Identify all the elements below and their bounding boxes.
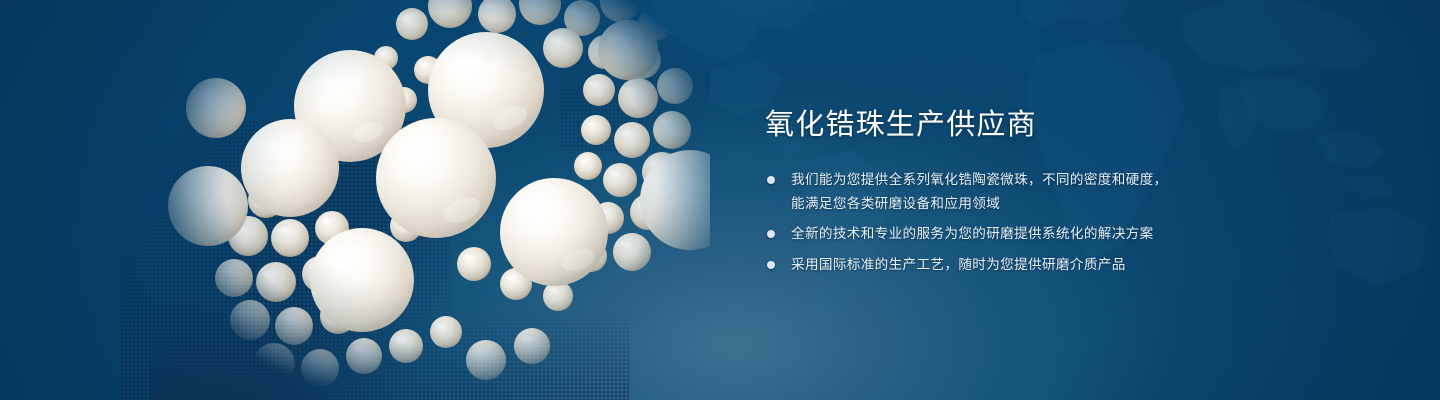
zirconia-beads-photo bbox=[150, 0, 710, 400]
list-item: 我们能为您提供全系列氧化锆陶瓷微珠，不同的密度和硬度， 能满足您各类研磨设备和应… bbox=[765, 168, 1235, 215]
bullet-text-line: 能满足您各类研磨设备和应用领域 bbox=[791, 192, 1235, 216]
hero-banner: 氧化锆珠生产供应商 我们能为您提供全系列氧化锆陶瓷微珠，不同的密度和硬度， 能满… bbox=[0, 0, 1440, 400]
list-item: 采用国际标准的生产工艺，随时为您提供研磨介质产品 bbox=[765, 253, 1235, 277]
page-title: 氧化锆珠生产供应商 bbox=[765, 108, 1235, 142]
bullet-dot-icon bbox=[767, 230, 775, 238]
feature-bullet-list: 我们能为您提供全系列氧化锆陶瓷微珠，不同的密度和硬度， 能满足您各类研磨设备和应… bbox=[765, 168, 1235, 276]
bullet-text-line: 采用国际标准的生产工艺，随时为您提供研磨介质产品 bbox=[791, 253, 1235, 277]
bullet-dot-icon bbox=[767, 261, 775, 269]
list-item: 全新的技术和专业的服务为您的研磨提供系统化的解决方案 bbox=[765, 222, 1235, 246]
bullet-dot-icon bbox=[767, 176, 775, 184]
banner-copy: 氧化锆珠生产供应商 我们能为您提供全系列氧化锆陶瓷微珠，不同的密度和硬度， 能满… bbox=[765, 108, 1235, 276]
bullet-text-line: 我们能为您提供全系列氧化锆陶瓷微珠，不同的密度和硬度， bbox=[791, 168, 1235, 192]
bullet-text-line: 全新的技术和专业的服务为您的研磨提供系统化的解决方案 bbox=[791, 222, 1235, 246]
